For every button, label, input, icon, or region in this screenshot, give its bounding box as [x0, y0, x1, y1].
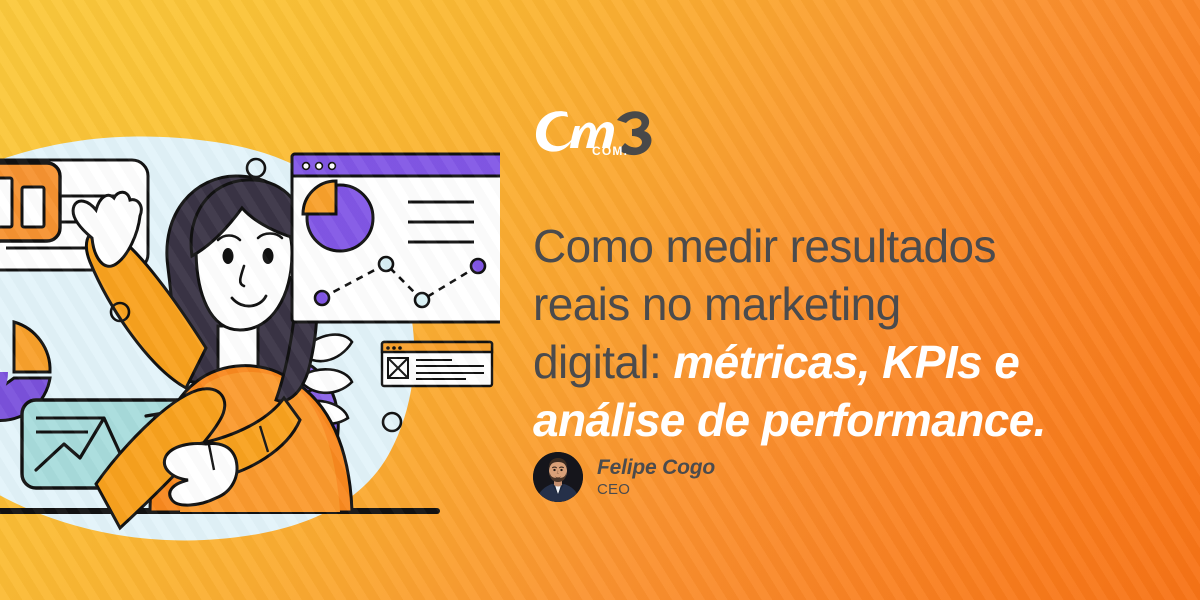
bar-chart-card [0, 163, 60, 241]
headline-line-3-emphasis: métricas, KPIs e [673, 336, 1019, 388]
headline-line-2: reais no marketing [533, 278, 901, 330]
article-banner: étricas COM. Como medir resultados reais… [0, 0, 1200, 600]
page-title: Como medir resultados reais no marketing… [533, 217, 1093, 449]
headline-line-4-emphasis: análise de performance. [533, 394, 1046, 446]
author-text: Felipe Cogo CEO [597, 455, 715, 499]
author-name: Felipe Cogo [597, 455, 715, 480]
window-dots [303, 163, 336, 170]
content-column: COM. Como medir resultados reais no mark… [533, 0, 1093, 600]
avatar [533, 452, 583, 502]
content-window [382, 342, 492, 386]
hero-illustration [0, 0, 500, 600]
brand-logo[interactable]: COM. [533, 104, 673, 160]
brand-sub-text: COM. [592, 144, 628, 158]
dashboard-window [292, 154, 500, 322]
headline-line-3-plain: digital: [533, 336, 661, 388]
author-role: CEO [597, 480, 715, 499]
headline-line-1: Como medir resultados [533, 220, 996, 272]
author-block: Felipe Cogo CEO [533, 452, 715, 502]
